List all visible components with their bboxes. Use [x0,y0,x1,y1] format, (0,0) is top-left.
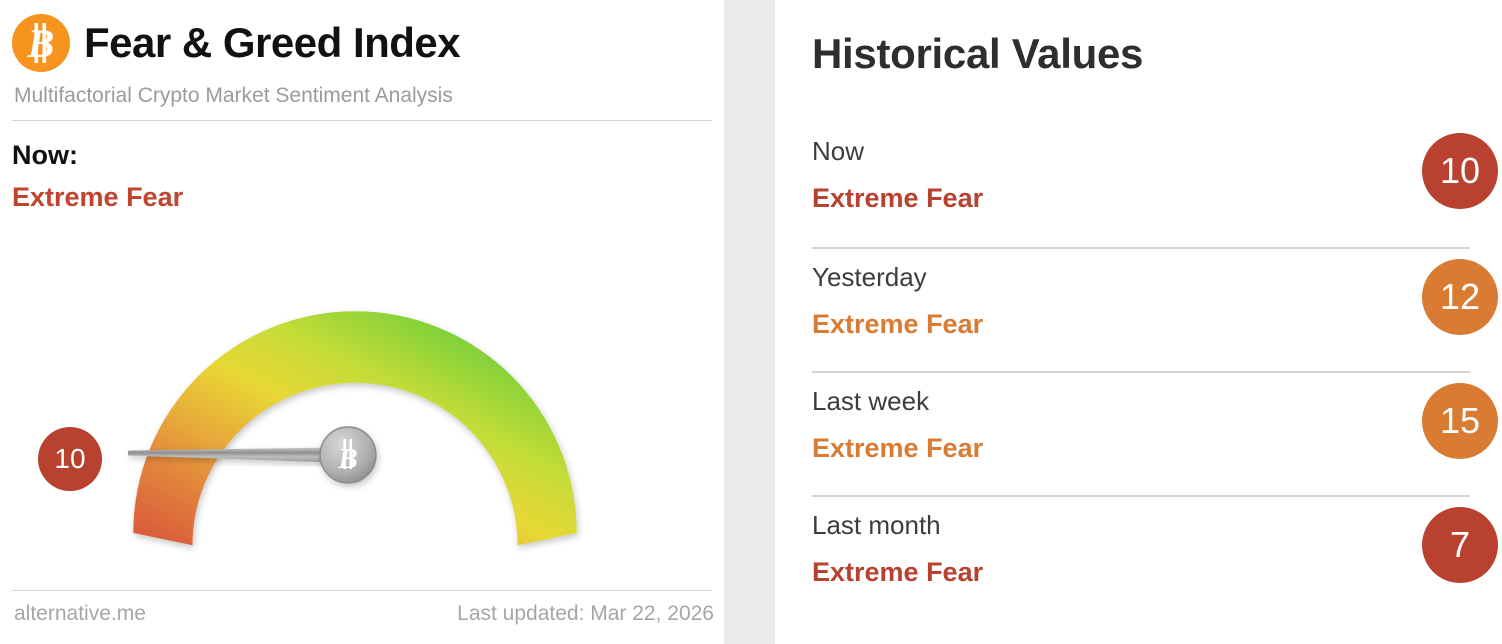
historical-panel: Historical Values NowExtreme Fear10Yeste… [775,0,1502,644]
historical-classification: Extreme Fear [812,182,1470,216]
source-label: alternative.me [14,602,146,626]
historical-value-badge: 12 [1422,259,1498,335]
panel-gutter [724,0,775,644]
historical-classification: Extreme Fear [812,308,1470,342]
historical-row-content: YesterdayExtreme Fear12 [812,249,1470,341]
svg-text:B: B [337,443,357,475]
historical-row-content: NowExtreme Fear10 [812,123,1470,215]
historical-list: NowExtreme Fear10YesterdayExtreme Fear12… [812,123,1470,619]
historical-period-label: Last week [812,385,1470,418]
gauge-panel: B Fear & Greed Index Multifactorial Cryp… [0,0,724,644]
historical-period-label: Now [812,135,1470,168]
historical-period-label: Last month [812,509,1470,542]
historical-title: Historical Values [812,30,1143,78]
historical-period-label: Yesterday [812,261,1470,294]
page-title: Fear & Greed Index [84,22,460,64]
historical-value-badge: 15 [1422,383,1498,459]
page-subtitle: Multifactorial Crypto Market Sentiment A… [14,84,453,108]
fear-greed-widget: B Fear & Greed Index Multifactorial Cryp… [0,0,1502,644]
last-updated-label: Last updated: Mar 22, 2026 [457,602,714,626]
footer-divider [12,590,712,591]
historical-row: NowExtreme Fear10 [812,123,1470,247]
historical-row-content: Last weekExtreme Fear15 [812,373,1470,465]
svg-text:B: B [27,21,55,66]
historical-row: Last weekExtreme Fear15 [812,371,1470,495]
header-divider [12,120,712,121]
historical-value-badge: 10 [1422,133,1498,209]
historical-row-content: Last monthExtreme Fear7 [812,497,1470,589]
current-value-badge: 10 [38,427,102,491]
now-label: Now: [12,140,78,171]
historical-classification: Extreme Fear [812,556,1470,590]
historical-classification: Extreme Fear [812,432,1470,466]
bitcoin-icon: B [12,14,70,72]
fear-greed-gauge: B [90,205,620,575]
historical-row: YesterdayExtreme Fear12 [812,247,1470,371]
bitcoin-needle-icon: B [320,427,376,483]
historical-row: Last monthExtreme Fear7 [812,495,1470,619]
brand-header: B Fear & Greed Index [12,12,460,74]
historical-value-badge: 7 [1422,507,1498,583]
